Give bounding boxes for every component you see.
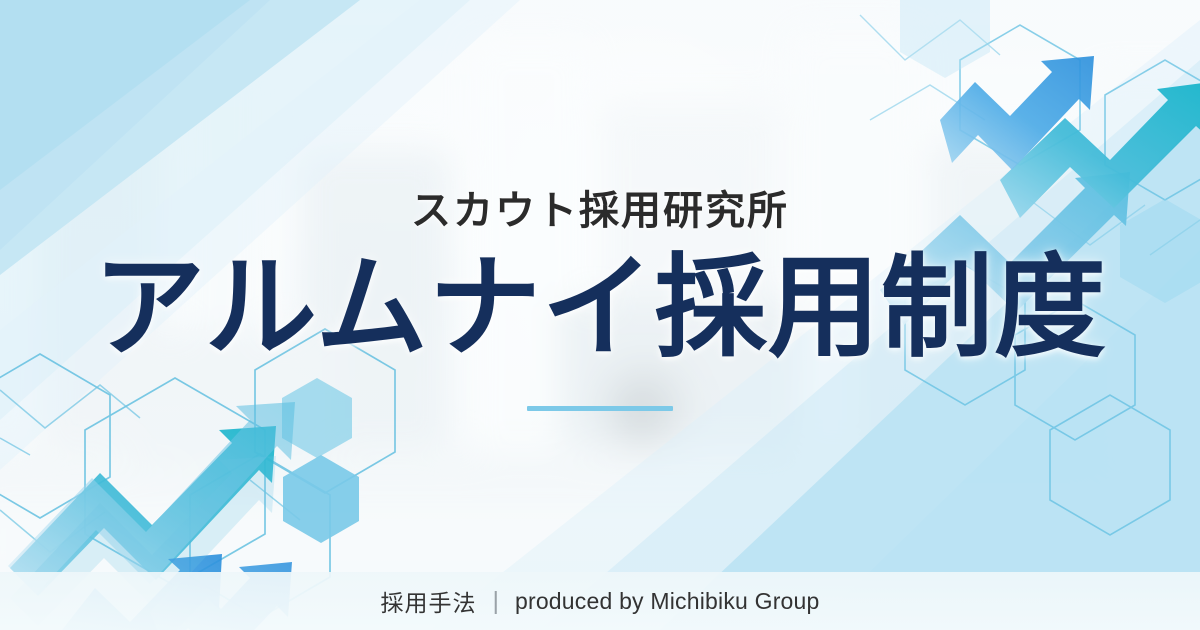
title-divider xyxy=(527,406,673,411)
footer-category: 採用手法 xyxy=(380,584,476,618)
footer-separator: | xyxy=(492,587,499,616)
banner-subtitle: スカウト採用研究所 xyxy=(0,178,1200,236)
banner-footer: 採用手法 | produced by Michibiku Group xyxy=(0,572,1200,630)
banner-content: スカウト採用研究所 アルムナイ採用制度 採用手法 | produced by M… xyxy=(0,0,1200,630)
banner-root: スカウト採用研究所 アルムナイ採用制度 採用手法 | produced by M… xyxy=(0,0,1200,630)
banner-title: アルムナイ採用制度 xyxy=(0,252,1200,364)
footer-credit: produced by Michibiku Group xyxy=(515,588,820,615)
